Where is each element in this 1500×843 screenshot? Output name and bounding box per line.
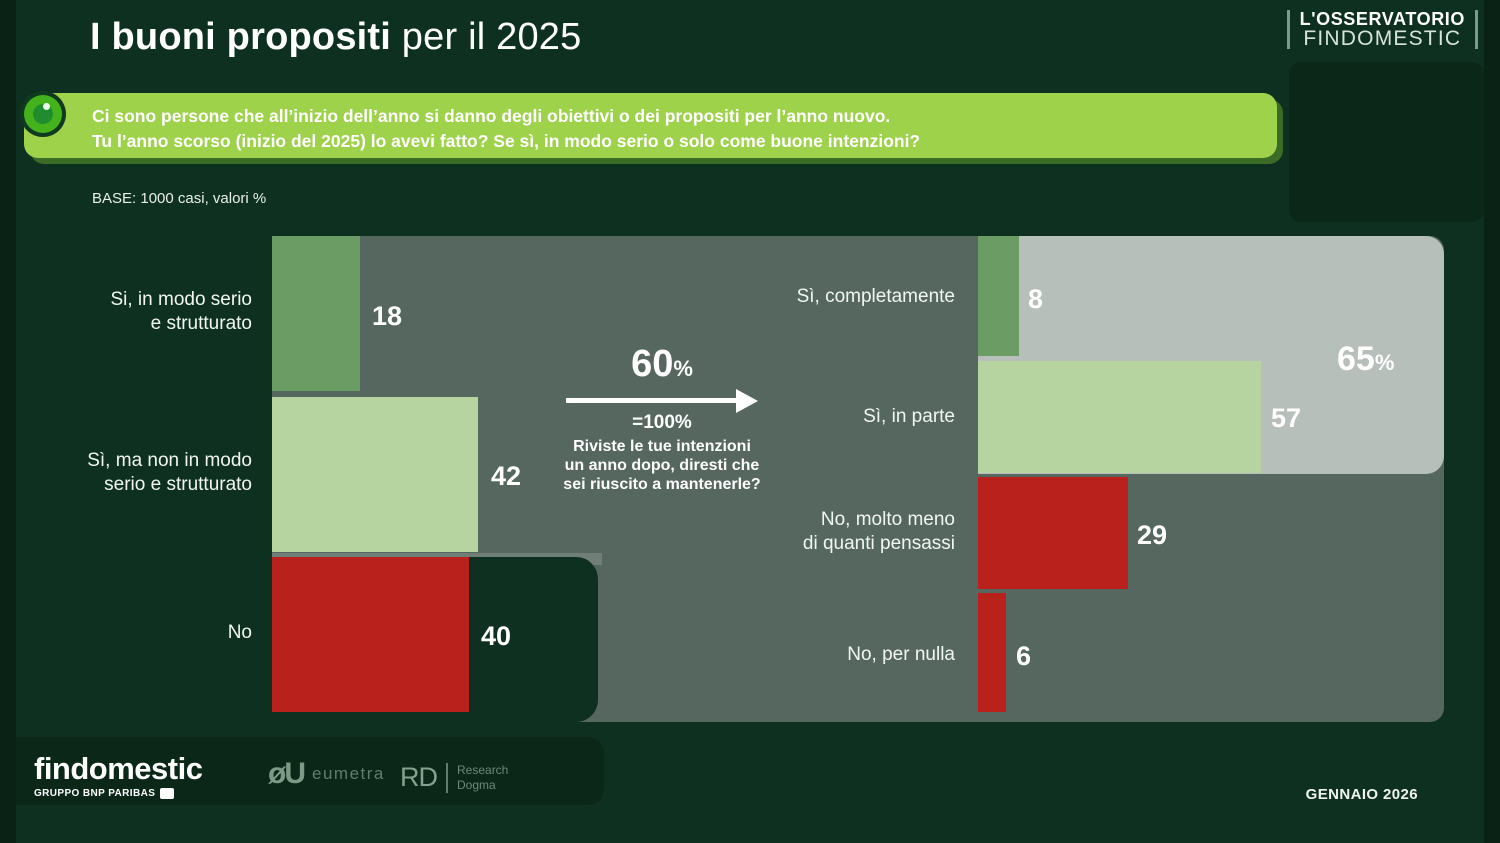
findomestic-sub-text: GRUPPO BNP PARIBAS xyxy=(34,788,155,799)
left-bar-value-1: 42 xyxy=(491,461,521,492)
question-line-1: Ci sono persone che all’inizio dell’anno… xyxy=(92,104,1252,129)
bullet-highlight-icon xyxy=(43,103,50,110)
right-label-1-line1: Sì, in parte xyxy=(863,406,955,427)
bnp-paribas-icon xyxy=(160,788,174,799)
eumetra-mark-icon: øU xyxy=(268,757,304,791)
annotation-sub-line3: sei riuscito a mantenerle? xyxy=(563,476,760,493)
highlight-percentage: 65% xyxy=(1337,340,1394,379)
left-bar-2 xyxy=(272,557,469,712)
left-label-1-line1: Sì, ma non in modo xyxy=(87,450,252,471)
page-title-bold: I buoni propositi xyxy=(90,16,391,58)
right-label-2-line2: di quanti pensassi xyxy=(803,533,955,554)
osservatorio-findomestic-logo: L'OSSERVATORIO FINDOMESTIC xyxy=(1287,10,1478,49)
right-bar-2 xyxy=(978,477,1128,589)
right-bar-1 xyxy=(978,361,1261,473)
annotation-headline-unit: % xyxy=(673,356,693,381)
eumetra-logo: øU eumetra xyxy=(268,757,385,791)
left-label-0-line2: e strutturato xyxy=(151,313,252,334)
left-bar-value-2: 40 xyxy=(481,621,511,652)
right-bar-3 xyxy=(978,593,1006,712)
base-note: BASE: 1000 casi, valori % xyxy=(92,190,266,207)
question-banner-text: Ci sono persone che all’inizio dell’anno… xyxy=(92,104,1252,155)
left-bar-1 xyxy=(272,397,478,552)
rd-mark-icon: RD xyxy=(400,762,437,793)
annotation-sub-line2: un anno dopo, diresti che xyxy=(565,457,760,474)
right-category-label-1: Sì, in parte xyxy=(640,405,955,429)
arrow-line xyxy=(566,398,741,403)
research-dogma-logo: RD Research Dogma xyxy=(400,762,508,793)
right-edge-strip xyxy=(1484,0,1500,843)
bullet-icon xyxy=(24,95,62,133)
right-label-2-line1: No, molto meno xyxy=(821,509,955,530)
right-category-label-3: No, per nulla xyxy=(640,643,955,667)
date-label: GENNAIO 2026 xyxy=(1306,786,1418,803)
right-bar-value-3: 6 xyxy=(1016,641,1031,672)
right-bar-value-2: 29 xyxy=(1137,520,1167,551)
annotation-subtext: Riviste le tue intenzioni un anno dopo, … xyxy=(556,438,768,495)
left-category-label-2: No xyxy=(40,621,252,645)
rd-word: Research Dogma xyxy=(457,763,508,793)
logo-line-2: FINDOMESTIC xyxy=(1300,28,1465,49)
page-title-rest: per il 2025 xyxy=(391,16,581,58)
left-edge-strip xyxy=(0,0,16,843)
top-right-decor-block xyxy=(1289,62,1484,222)
logo-line-1: L'OSSERVATORIO xyxy=(1300,10,1465,28)
highlight-unit: % xyxy=(1375,350,1395,375)
page-title: I buoni propositi per il 2025 xyxy=(90,16,581,59)
left-bar-0 xyxy=(272,236,360,391)
rd-divider xyxy=(446,763,448,793)
left-label-2-line1: No xyxy=(228,622,252,643)
right-label-0-line1: Sì, completamente xyxy=(797,286,955,307)
annotation-sub-line1: Riviste le tue intenzioni xyxy=(573,438,751,455)
left-category-label-1: Sì, ma non in modo serio e strutturato xyxy=(40,449,252,497)
right-label-3-line1: No, per nulla xyxy=(847,644,955,665)
findomestic-logo: findomestic GRUPPO BNP PARIBAS xyxy=(34,751,202,799)
right-bar-value-1: 57 xyxy=(1271,403,1301,434)
question-line-2: Tu l’anno scorso (inizio del 2025) lo av… xyxy=(92,129,1252,154)
rd-word-line1: Research xyxy=(457,763,508,777)
left-label-0-line1: Si, in modo serio xyxy=(110,289,252,310)
findomestic-name: findomestic xyxy=(34,751,202,787)
findomestic-subline: GRUPPO BNP PARIBAS xyxy=(34,788,202,799)
left-category-label-0: Si, in modo serio e strutturato xyxy=(40,288,252,336)
right-bar-value-0: 8 xyxy=(1028,284,1043,315)
highlight-value: 65 xyxy=(1337,340,1375,378)
rd-word-line2: Dogma xyxy=(457,778,496,792)
left-label-1-line2: serio e strutturato xyxy=(104,474,252,495)
eumetra-word: eumetra xyxy=(312,764,385,784)
right-category-label-0: Sì, completamente xyxy=(640,285,955,309)
right-bar-0 xyxy=(978,236,1019,356)
left-bar-value-0: 18 xyxy=(372,301,402,332)
annotation-headline-value: 60 xyxy=(631,343,673,385)
annotation-headline: 60% xyxy=(556,345,768,383)
right-category-label-2: No, molto meno di quanti pensassi xyxy=(640,508,955,556)
slide-canvas: I buoni propositi per il 2025 L'OSSERVAT… xyxy=(0,0,1500,843)
